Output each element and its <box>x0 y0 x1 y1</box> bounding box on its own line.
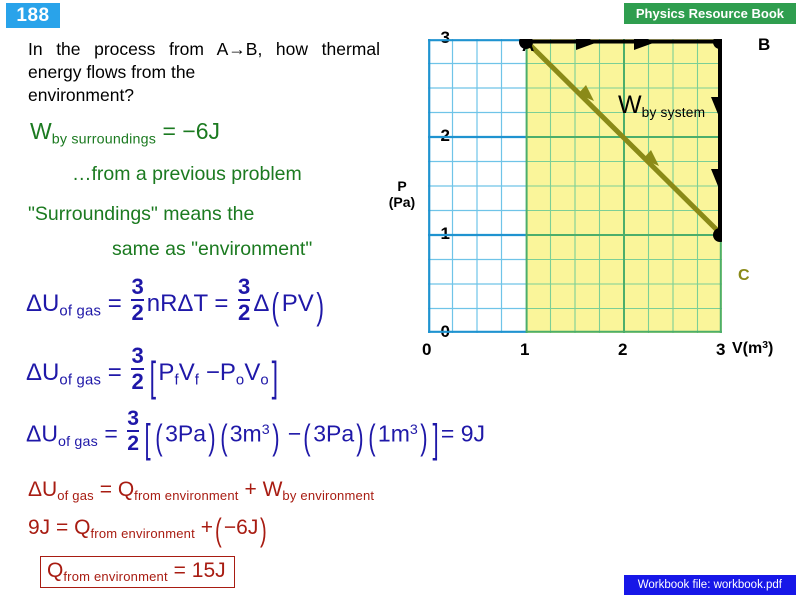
right-paren-3: ) <box>356 423 363 452</box>
left-paren: ( <box>272 291 280 322</box>
right-paren-1: ) <box>208 423 215 452</box>
q-subscript: from environment <box>90 526 194 541</box>
boxed-answer: Qfrom environment = 15J <box>40 556 235 588</box>
volume-2-exponent: 3 <box>410 422 418 438</box>
equals-sign: = <box>104 420 117 446</box>
y-axis-label: P (Pa) <box>380 178 424 210</box>
fraction-numerator: 3 <box>131 276 143 298</box>
delta-u-symbol: ΔU <box>26 290 59 317</box>
of-gas-subscript: of gas <box>59 304 101 320</box>
right-paren: ) <box>260 517 267 544</box>
delta-u-symbol: ΔU <box>26 420 58 446</box>
left-paren-1: ( <box>155 423 162 452</box>
x-axis-symbol: V(m <box>732 340 762 357</box>
delta-u-equation-2: ΔUof gas = 3 2 [PfVf −PoVo] <box>26 345 281 393</box>
surroundings-means-note: "Surroundings" means the <box>28 203 254 226</box>
from-previous-problem-note: …from a previous problem <box>72 163 302 186</box>
w-symbol: W <box>263 478 283 501</box>
fraction-numerator: 3 <box>238 276 250 298</box>
po-symbol: P <box>220 359 236 386</box>
fraction-denominator: 2 <box>127 433 139 454</box>
right-paren-4: ) <box>420 423 427 452</box>
negative-six-joules: −6J <box>224 516 258 539</box>
delta-u-equation-1: ΔUof gas = 3 2 nRΔT = 3 2 Δ(PV) <box>26 276 326 324</box>
w-symbol: W <box>618 91 642 119</box>
right-paren-2: ) <box>272 423 279 452</box>
point-label-c: C <box>738 267 750 285</box>
left-bracket: [ <box>149 360 155 394</box>
three-halves-fraction: 3 2 <box>127 408 139 454</box>
q-symbol: Q <box>118 478 134 501</box>
fraction-numerator: 3 <box>131 345 143 367</box>
x-axis-label: V(m3) <box>732 340 773 358</box>
w-symbol: W <box>30 118 52 144</box>
first-law-equation: ΔUof gas = Qfrom environment + Wby envir… <box>28 478 374 503</box>
q-subscript: from environment <box>63 569 167 584</box>
x-tick-0: 0 <box>422 340 431 360</box>
three-halves-fraction: 3 2 <box>131 345 143 393</box>
q-symbol: Q <box>47 559 63 582</box>
point-b-marker <box>713 39 722 49</box>
equals-sign: = <box>100 478 112 501</box>
work-by-surroundings-equation: Wby surroundings = −6J <box>30 118 220 148</box>
point-label-b: B <box>758 35 770 55</box>
q-subscript: from environment <box>134 488 238 503</box>
x-tick-3: 3 <box>716 340 725 360</box>
volume-1-exponent: 3 <box>262 422 270 438</box>
left-paren: ( <box>215 517 222 544</box>
segment-c-to-a <box>526 41 722 235</box>
three-halves-fraction: 3 2 <box>131 276 143 324</box>
vo-symbol: V <box>244 359 260 386</box>
left-paren-4: ( <box>368 423 375 452</box>
x-axis-close-paren: ) <box>768 340 773 357</box>
pressure-2: 3Pa <box>313 420 354 446</box>
point-label-a: A <box>522 36 534 56</box>
answer-value: = 15J <box>174 559 226 582</box>
delta-u-equation-3: ΔUof gas = 3 2 [(3Pa)(3m3) −(3Pa)(1m3)]=… <box>26 408 485 455</box>
y-axis-unit: (Pa) <box>389 194 415 210</box>
delta-u-symbol: ΔU <box>28 478 57 501</box>
work-by-system-label: Wby system <box>618 91 705 120</box>
vf-symbol: V <box>179 359 195 386</box>
page-number-badge: 188 <box>6 3 60 28</box>
nrdt-term: nRΔT <box>147 290 208 317</box>
fraction-numerator: 3 <box>127 408 139 429</box>
left-paren-2: ( <box>220 423 227 452</box>
equals-sign: = <box>108 359 122 386</box>
question-text: In the process from A→B, how thermal ene… <box>28 38 380 107</box>
plus-sign: + <box>244 478 256 501</box>
pv-term: PV <box>282 290 314 317</box>
plus-sign: + <box>201 516 213 539</box>
fraction-denominator: 2 <box>131 371 143 393</box>
right-bracket: ] <box>432 423 438 455</box>
plot-area: A B C Wby system <box>428 39 722 333</box>
question-line-2: environment? <box>28 84 380 107</box>
process-path <box>428 39 722 333</box>
fraction-denominator: 2 <box>131 302 143 324</box>
volume-2: 1m <box>378 420 410 446</box>
equation-3-result: = 9J <box>441 420 485 446</box>
w-subscript: by environment <box>282 488 374 503</box>
equals-sign-2: = <box>214 290 228 317</box>
substituted-first-law-equation: 9J = Qfrom environment +(−6J) <box>28 516 269 544</box>
workbook-file-banner: Workbook file: workbook.pdf <box>624 575 796 595</box>
w-subscript: by system <box>642 105 706 120</box>
pressure-1: 3Pa <box>165 420 206 446</box>
same-as-environment-note: same as "environment" <box>112 238 312 261</box>
fraction-denominator: 2 <box>238 302 250 324</box>
right-paren: ) <box>316 291 324 322</box>
left-paren-3: ( <box>304 423 311 452</box>
segment-b-to-c <box>711 41 722 235</box>
x-tick-1: 1 <box>520 340 529 360</box>
w-value: = −6J <box>163 118 221 144</box>
delta-u-symbol: ΔU <box>26 359 59 386</box>
volume-1: 3m <box>230 420 262 446</box>
vo-subscript: o <box>260 373 268 389</box>
nine-joules-lhs: 9J = <box>28 516 68 539</box>
of-gas-subscript: of gas <box>59 373 101 389</box>
pv-diagram: P (Pa) 3 2 1 0 0 1 2 3 V(m3) <box>380 18 796 363</box>
right-bracket: ] <box>271 360 277 394</box>
delta-symbol: Δ <box>253 290 269 317</box>
equals-sign: = <box>108 290 122 317</box>
segment-a-to-b <box>526 39 722 50</box>
q-symbol: Q <box>74 516 90 539</box>
vf-subscript: f <box>195 373 199 389</box>
three-halves-fraction-2: 3 2 <box>238 276 250 324</box>
w-subscript: by surroundings <box>52 132 156 148</box>
left-bracket: [ <box>145 423 151 455</box>
minus-sign: − <box>206 359 220 386</box>
y-axis-symbol: P <box>397 178 406 194</box>
of-gas-subscript: of gas <box>58 434 98 450</box>
question-line-1: In the process from A→B, how thermal ene… <box>28 39 380 82</box>
pf-symbol: P <box>158 359 174 386</box>
x-tick-2: 2 <box>618 340 627 360</box>
of-gas-subscript: of gas <box>57 488 94 503</box>
minus-sign: − <box>288 420 301 446</box>
